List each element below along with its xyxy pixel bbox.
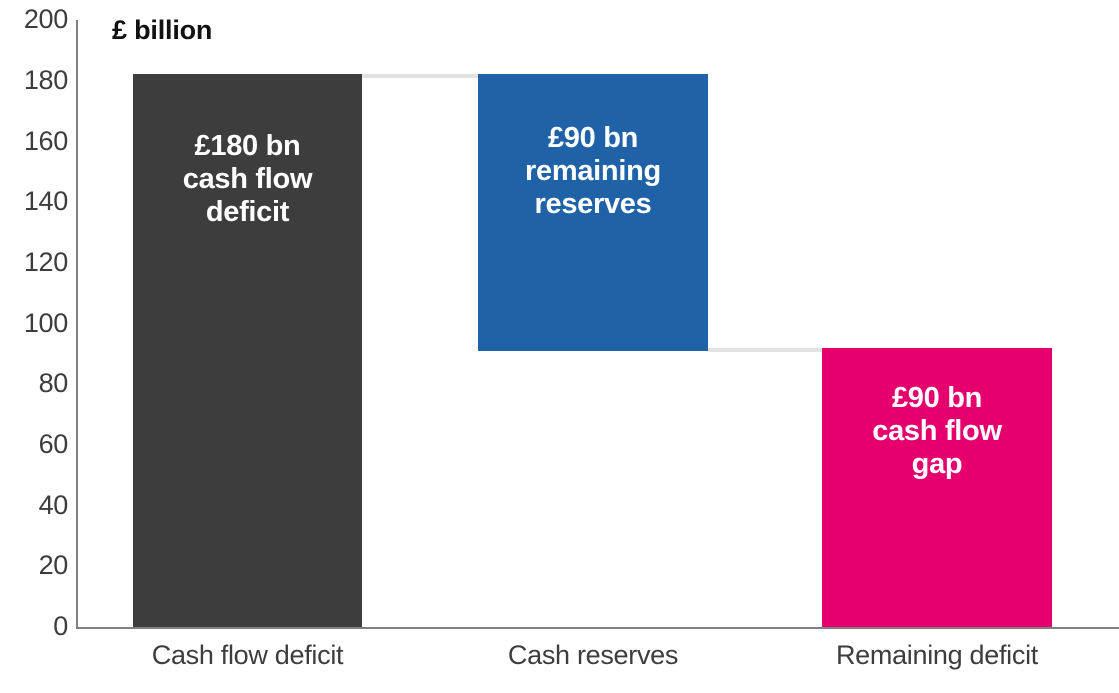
x-label-remaining-deficit: Remaining deficit (822, 642, 1052, 669)
x-axis-line (76, 627, 1119, 629)
y-tick-20: 20 (6, 552, 68, 579)
y-tick-180: 180 (6, 67, 68, 94)
chart-unit-caption: £ billion (112, 16, 212, 46)
waterfall-chart: £ billion 200 180 160 140 120 100 80 60 … (0, 0, 1119, 693)
y-tick-40: 40 (6, 492, 68, 519)
bar-label-remaining-deficit: £90 bn cash flow gap (866, 382, 1007, 481)
bar-label-cash-flow-deficit: £180 bn cash flow deficit (177, 130, 318, 229)
connector-deficit-to-reserves (362, 74, 478, 78)
connector-reserves-to-gap (708, 348, 822, 352)
y-tick-200: 200 (6, 6, 68, 33)
bar-cash-flow-deficit[interactable]: £180 bn cash flow deficit (133, 74, 362, 627)
x-label-cash-flow-deficit: Cash flow deficit (133, 642, 362, 669)
y-axis-tick-labels: 200 180 160 140 120 100 80 60 40 20 0 (0, 0, 68, 693)
y-axis-line (76, 20, 78, 629)
y-tick-0: 0 (6, 613, 68, 640)
y-tick-80: 80 (6, 370, 68, 397)
bar-cash-reserves[interactable]: £90 bn remaining reserves (478, 74, 708, 351)
y-tick-160: 160 (6, 128, 68, 155)
bar-label-cash-reserves: £90 bn remaining reserves (519, 122, 667, 221)
y-tick-120: 120 (6, 249, 68, 276)
y-tick-60: 60 (6, 431, 68, 458)
y-tick-140: 140 (6, 188, 68, 215)
x-label-cash-reserves: Cash reserves (478, 642, 708, 669)
y-tick-100: 100 (6, 310, 68, 337)
bar-remaining-deficit[interactable]: £90 bn cash flow gap (822, 348, 1052, 627)
